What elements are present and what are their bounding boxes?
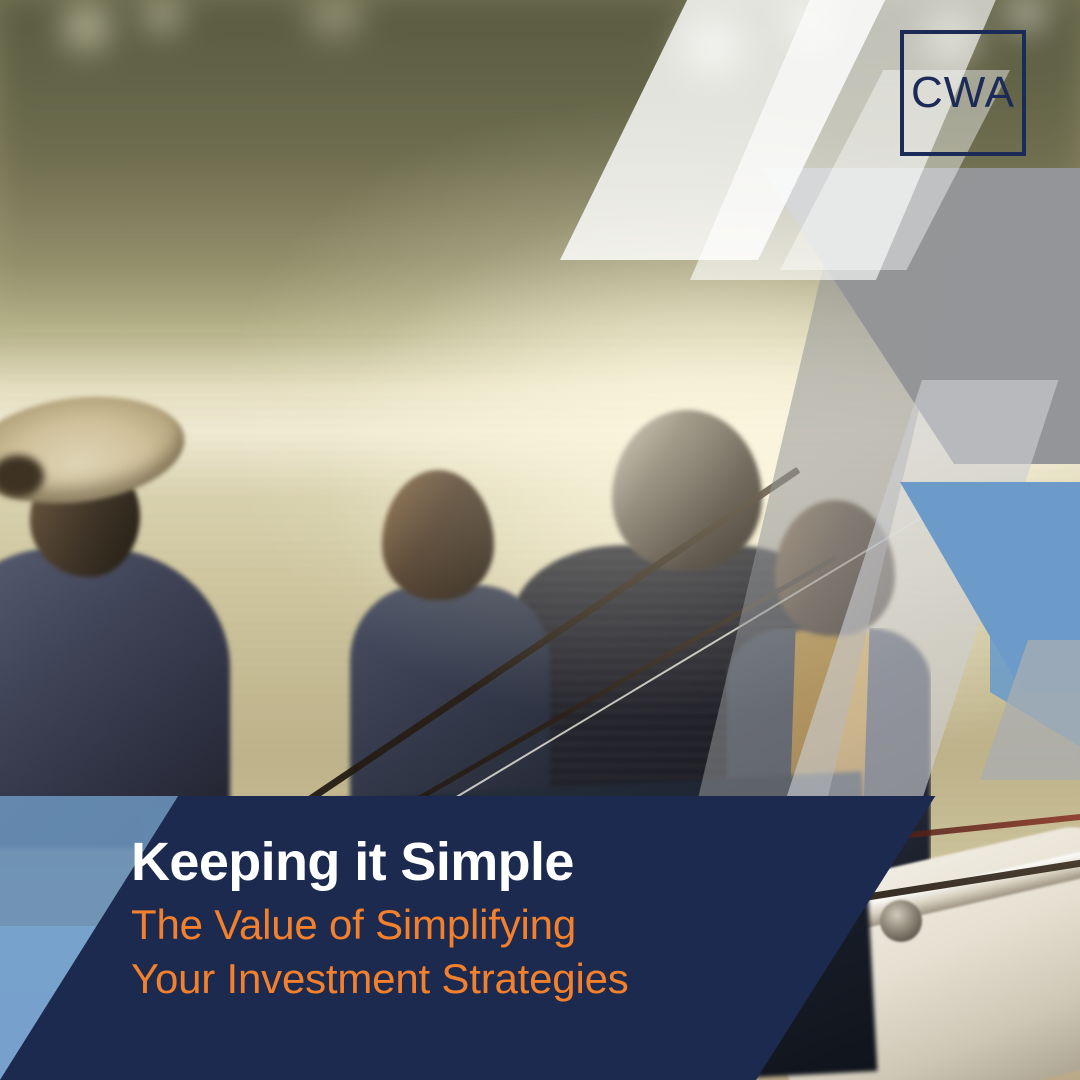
cwa-logo-text: CWA [911,71,1015,115]
social-graphic-canvas: CWA Keeping it Simple The Value of Simpl… [0,0,1080,1080]
subtitle: The Value of Simplifying Your Investment… [131,898,751,1006]
subtitle-line-2: Your Investment Strategies [131,952,751,1006]
subtitle-line-1: The Value of Simplifying [131,898,751,952]
title-banner: Keeping it Simple The Value of Simplifyi… [0,796,1080,1080]
cwa-logo[interactable]: CWA [900,30,1026,156]
headline: Keeping it Simple [131,834,751,890]
banner-text-block: Keeping it Simple The Value of Simplifyi… [131,834,751,1006]
